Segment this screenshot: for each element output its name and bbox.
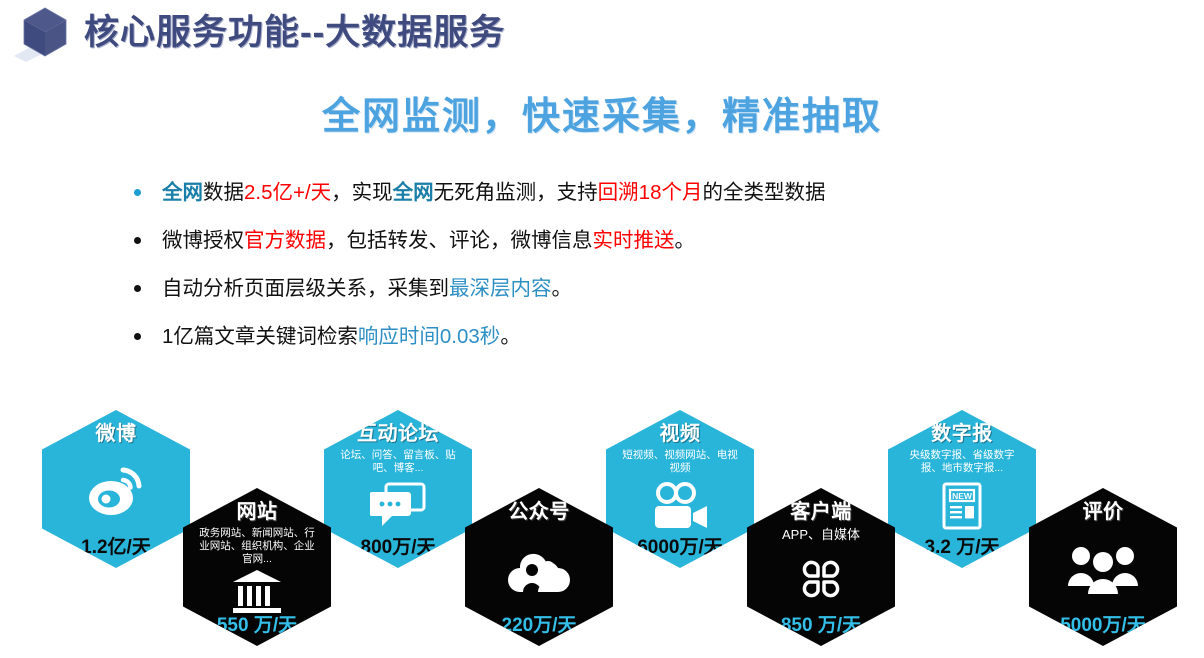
group-people-icon	[1029, 524, 1177, 615]
bullet-text-segment: 最深层内容	[449, 277, 552, 300]
bullet-list: 全网数据2.5亿+/天，实现全网无死角监测，支持回溯18个月的全类型数据微博授权…	[128, 178, 1128, 370]
channel-value: 5000万/天	[1060, 615, 1146, 646]
channel-title: 公众号	[508, 500, 570, 524]
channel-hex-7[interactable]: 评价 5000万/天	[1029, 488, 1177, 646]
slide-subtitle: 全网监测，快速采集，精准抽取	[0, 85, 1204, 140]
channel-title: 互动论坛	[357, 422, 439, 446]
bullet-text-segment: 的全类型数据	[702, 181, 825, 204]
slide-root: 核心服务功能--大数据服务 全网监测，快速采集，精准抽取 全网数据2.5亿+/天…	[0, 0, 1204, 658]
channel-title: 数字报	[931, 422, 993, 446]
apps-icon	[747, 543, 895, 615]
channel-value: 550 万/天	[217, 615, 297, 646]
bullet-text-segment: 无死角监测，支持	[434, 181, 598, 204]
bank-icon	[183, 566, 331, 615]
bullet-text-segment: 1亿篇文章关键词检索	[162, 325, 358, 348]
bullet-marker-icon	[134, 333, 141, 340]
bullet-text-segment: 微博授权	[162, 229, 244, 252]
bullet-text-segment: 全网	[162, 181, 203, 204]
channel-title: 微博	[96, 422, 137, 446]
bullet-text-segment: 自动分析页面层级关系，采集到	[162, 277, 449, 300]
channel-title: 视频	[660, 422, 701, 446]
channel-value: 850 万/天	[781, 615, 861, 646]
channel-description: 政务网站、新闻网站、行业网站、组织机构、企业官网...	[199, 527, 315, 566]
channel-value: 800万/天	[361, 537, 436, 568]
channel-value: 1.2亿/天	[81, 537, 151, 568]
bullet-item: 全网数据2.5亿+/天，实现全网无死角监测，支持回溯18个月的全类型数据	[128, 178, 1128, 208]
bullet-marker-icon	[134, 189, 141, 196]
bullet-text-segment: 官方数据	[244, 229, 326, 252]
bullet-text-segment: 回溯18个月	[598, 181, 703, 204]
channel-hex-4[interactable]: 视频短视频、视频网站、电视视频 6000万/天	[606, 410, 754, 568]
bullet-text-segment: 。	[675, 229, 696, 252]
people-cloud-icon	[465, 524, 613, 615]
channel-description: 短视频、视频网站、电视视频	[622, 449, 738, 475]
channel-description: APP、自媒体	[763, 527, 879, 543]
channel-hex-row: 微博 1.2亿/天网站政务网站、新闻网站、行业网站、组织机构、企业官网... 5…	[0, 398, 1204, 658]
svg-text:NEW: NEW	[952, 491, 973, 501]
channel-title: 网站	[237, 500, 278, 524]
channel-hex-5[interactable]: 客户端APP、自媒体 850 万/天	[747, 488, 895, 646]
channel-description: 论坛、问答、留言板、贴吧、博客...	[340, 449, 456, 475]
channel-value: 220万/天	[502, 615, 577, 646]
chat-icon	[324, 475, 472, 537]
channel-title: 客户端	[790, 500, 852, 524]
channel-value: 3.2 万/天	[925, 537, 1000, 568]
newspaper-new-icon: NEW	[888, 475, 1036, 537]
bullet-text-segment: 。	[552, 277, 573, 300]
bullet-text-segment: 实时推送	[593, 229, 675, 252]
channel-hex-6[interactable]: 数字报央级数字报、省级数字报、地市数字报... NEW 3.2 万/天	[888, 410, 1036, 568]
bullet-text-segment: 响应时间0.03秒	[358, 325, 500, 348]
bullet-marker-icon	[134, 285, 141, 292]
bullet-text-segment: 全网	[393, 181, 434, 204]
slide-header: 核心服务功能--大数据服务	[0, 0, 1204, 62]
channel-title: 评价	[1083, 500, 1124, 524]
channel-hex-0[interactable]: 微博 1.2亿/天	[42, 410, 190, 568]
bullet-text-segment: 。	[500, 325, 521, 348]
bullet-item: 自动分析页面层级关系，采集到最深层内容。	[128, 274, 1128, 304]
bullet-marker-icon	[134, 237, 141, 244]
bullet-text-segment: ，实现	[331, 181, 393, 204]
channel-hex-3[interactable]: 公众号 220万/天	[465, 488, 613, 646]
bullet-text-segment: ，包括转发、评论，微博信息	[326, 229, 593, 252]
weibo-icon	[42, 446, 190, 537]
page-title: 核心服务功能--大数据服务	[84, 4, 505, 55]
channel-description: 央级数字报、省级数字报、地市数字报...	[904, 449, 1020, 475]
channel-value: 6000万/天	[637, 537, 723, 568]
bullet-item: 微博授权官方数据，包括转发、评论，微博信息实时推送。	[128, 226, 1128, 256]
channel-hex-2[interactable]: 互动论坛论坛、问答、留言板、贴吧、博客... 800万/天	[324, 410, 472, 568]
channel-hex-1[interactable]: 网站政务网站、新闻网站、行业网站、组织机构、企业官网... 550 万/天	[183, 488, 331, 646]
bullet-text-segment: 数据	[203, 181, 244, 204]
camcorder-icon	[606, 475, 754, 537]
bullet-item: 1亿篇文章关键词检索响应时间0.03秒。	[128, 322, 1128, 352]
bullet-text-segment: 2.5亿+/天	[244, 181, 331, 204]
cube-icon	[14, 4, 76, 62]
